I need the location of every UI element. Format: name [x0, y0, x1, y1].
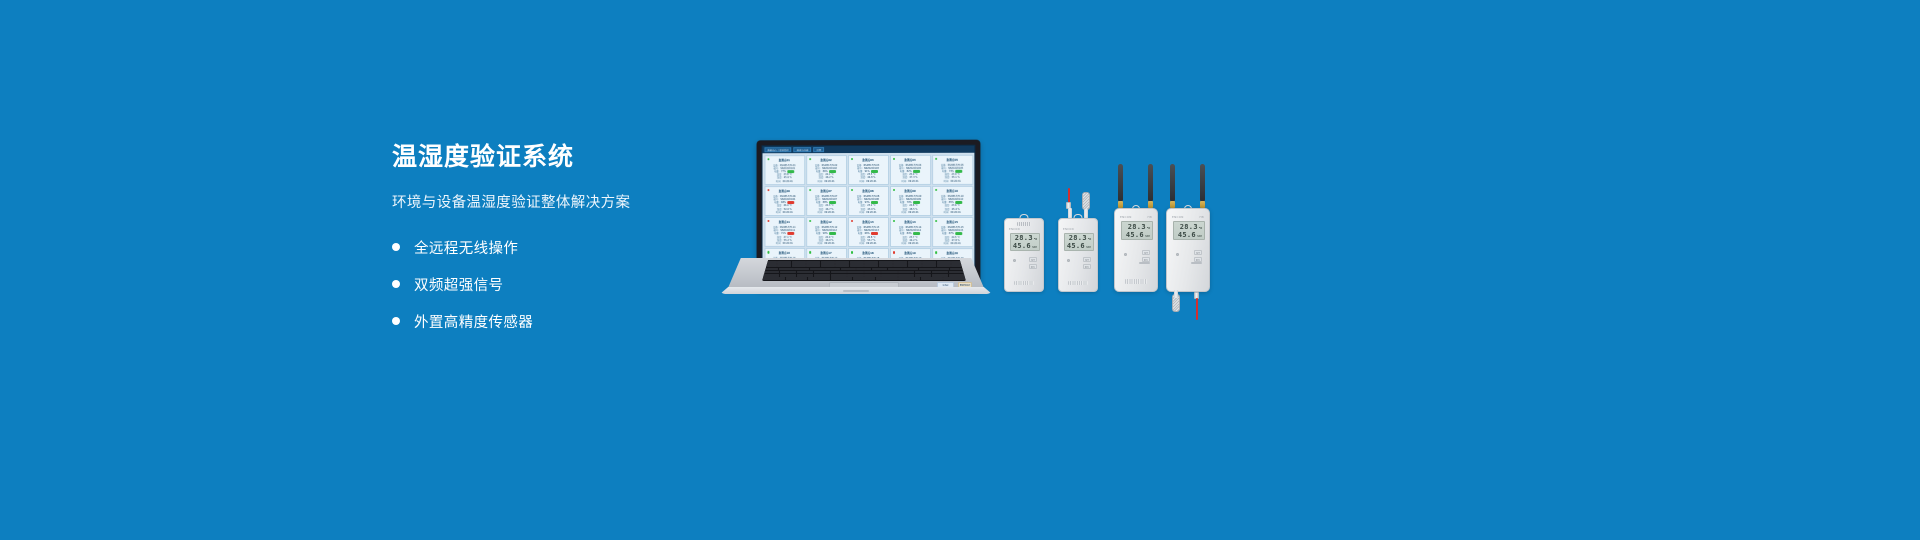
- monitor-card[interactable]: 监测点10设备:RS485-T/H-10编号:SN20220110电量:85%温…: [932, 186, 973, 216]
- wireless-validator-2: ENCON H8 28.3 ℃ 45.6 %RH SET REC: [1166, 208, 1210, 292]
- wireless-validator-2-brand: ENCON: [1172, 215, 1184, 219]
- monitor-card[interactable]: 监测点04设备:RS485-T/H-04编号:SN20220104电量:82%温…: [890, 154, 931, 184]
- field-time-label: 时间:: [859, 242, 864, 245]
- probe-cable: [1196, 298, 1198, 320]
- field-time: 时间:09:20:41: [809, 242, 844, 245]
- keyboard-key[interactable]: [872, 268, 887, 271]
- lcd-temp-value: 28.3: [1128, 223, 1146, 231]
- field-time: 时间:09:20:41: [767, 180, 802, 183]
- keyboard-key[interactable]: [763, 264, 777, 267]
- keyboard-row: [763, 271, 965, 274]
- data-logger-2-lcd: 28.3 ℃ 45.6 %RH: [1064, 233, 1094, 251]
- feature-bullet-3: 外置高精度传感器: [392, 308, 722, 334]
- field-time-label: 时间:: [901, 242, 906, 245]
- device-product-group: ENCON 28.3 ℃ 45.6 %RH SET REC: [1004, 190, 1224, 330]
- ok-status-dot-icon: [851, 189, 853, 192]
- antenna-left-base: [1170, 201, 1175, 208]
- field-time-value: 09:20:41: [866, 211, 876, 214]
- wireless-validator-2-keypad: SET REC: [1194, 250, 1202, 262]
- keyboard-key[interactable]: [777, 261, 791, 264]
- alarm-status-dot-icon: [893, 251, 896, 254]
- keyboard-row: [763, 277, 965, 280]
- keyboard-key[interactable]: [881, 274, 897, 277]
- lcd-temp-line: 28.3 ℃: [1124, 223, 1150, 231]
- monitor-card-title: 监测点06: [779, 190, 790, 194]
- keyboard-key[interactable]: [898, 274, 914, 277]
- keyboard-key[interactable]: [864, 274, 880, 277]
- bullet-dot-icon: [392, 280, 400, 288]
- lcd-hum-unit: %RH: [1032, 245, 1037, 249]
- keyboard-row: [763, 261, 965, 264]
- monitor-card-title: 监测点02: [820, 159, 831, 163]
- keyboard-key[interactable]: [949, 271, 965, 274]
- keyboard-key[interactable]: [814, 274, 830, 277]
- monitor-card-title: 监测点08: [862, 190, 873, 194]
- alarm-status-dot-icon: [851, 220, 853, 222]
- monitor-card-title: 监测点13: [862, 221, 873, 225]
- field-time-value: 09:20:41: [950, 179, 960, 182]
- keyboard-key[interactable]: [763, 271, 779, 274]
- field-time-label: 时间:: [859, 180, 864, 183]
- monitor-card-fields: 设备:RS485-T/H-05编号:SN20220105电量:74%温度:23.…: [935, 163, 970, 182]
- lcd-hum-line: 45.6 %RH: [1124, 231, 1150, 239]
- field-time-label: 时间:: [818, 180, 823, 183]
- field-time-label: 时间:: [776, 211, 781, 214]
- promo-banner: 温湿度验证系统 环境与设备温湿度验证整体解决方案 全远程无线操作 双频超强信号 …: [0, 0, 1920, 540]
- field-time-label: 时间:: [859, 211, 864, 214]
- ok-status-dot-icon: [767, 251, 769, 253]
- wireless-validator-2-labels: ENCON H8: [1167, 215, 1209, 219]
- antenna-right-icon: [1200, 164, 1205, 202]
- monitor-card-fields: 设备:RS485-T/H-10编号:SN20220110电量:85%温度:23.…: [935, 195, 970, 214]
- label-strip: [1139, 262, 1150, 264]
- monitor-card-title: 监测点01: [779, 159, 790, 163]
- keyboard-key[interactable]: [888, 268, 903, 271]
- monitor-card-title: 监测点14: [904, 221, 915, 225]
- monitor-card[interactable]: 监测点14设备:RS485-T/H-14编号:SN20220114电量:84%温…: [890, 217, 931, 247]
- monitor-card-fields: 设备:RS485-T/H-02编号:SN20220102电量:86%温度:24.…: [809, 164, 844, 183]
- key-set[interactable]: SET: [1029, 257, 1037, 262]
- monitor-card-title: 监测点05: [946, 158, 957, 162]
- battery-bar-icon: [871, 201, 878, 204]
- field-time: 时间:09:20:41: [767, 242, 802, 245]
- keyboard-key[interactable]: [808, 277, 830, 280]
- keyboard-key[interactable]: [797, 271, 813, 274]
- keyboard-key[interactable]: [786, 277, 808, 280]
- keyboard-row: [763, 264, 965, 267]
- monitor-card-title: 监测点07: [820, 190, 831, 194]
- lcd-hum-unit: %RH: [1086, 245, 1091, 249]
- speaker-grille-icon: [1068, 281, 1088, 285]
- monitor-card-title: 监测点10: [946, 190, 957, 194]
- monitor-card[interactable]: 监测点15设备:RS485-T/H-15编号:SN20220115电量:87%温…: [932, 217, 973, 247]
- keyboard-key[interactable]: [903, 268, 918, 271]
- keyboard-key[interactable]: [835, 264, 849, 267]
- keyboard-key[interactable]: [937, 264, 951, 267]
- field-time: 时间:09:20:41: [767, 211, 802, 214]
- monitor-card[interactable]: 监测点09设备:RS485-T/H-09编号:SN20220109电量:79%温…: [890, 186, 931, 216]
- data-logger-2-body: ENCON 28.3 ℃ 45.6 %RH SET REC: [1058, 218, 1098, 292]
- keyboard-key[interactable]: [835, 261, 849, 264]
- field-time-label: 时间:: [776, 180, 781, 183]
- battery-bar-icon: [829, 232, 836, 235]
- monitor-card[interactable]: 监测点03设备:RS485-T/H-03编号:SN20220103电量:91%温…: [848, 154, 889, 184]
- battery-bar-icon: [871, 232, 878, 235]
- field-time-value: 09:20:41: [783, 242, 793, 245]
- field-time: 时间:09:20:41: [935, 242, 970, 245]
- monitor-card-title: 监测点04: [904, 158, 915, 162]
- keyboard-key[interactable]: [951, 264, 965, 267]
- keyboard-key[interactable]: [806, 261, 820, 264]
- keyboard-key[interactable]: [850, 264, 864, 267]
- data-logger-1: ENCON 28.3 ℃ 45.6 %RH SET REC: [1004, 218, 1044, 292]
- keyboard-key[interactable]: [856, 268, 871, 271]
- ok-status-dot-icon: [893, 189, 896, 192]
- field-time-value: 09:20:41: [866, 180, 876, 183]
- lcd-temp-unit: ℃: [1088, 237, 1091, 241]
- field-time-label: 时间:: [944, 179, 949, 182]
- monitor-card[interactable]: 监测点07设备:RS485-T/H-07编号:SN20220107电量:88%温…: [806, 186, 847, 216]
- ok-status-dot-icon: [935, 189, 938, 192]
- monitor-card-fields: 设备:RS485-T/H-06编号:SN20220106电量:68%温度:26.…: [767, 195, 802, 214]
- keyboard-key[interactable]: [937, 261, 951, 264]
- monitor-card-fields: 设备:RS485-T/H-08编号:SN20220108电量:93%温度:23.…: [851, 195, 886, 214]
- field-time: 时间:09:20:41: [893, 242, 928, 245]
- keyboard-key[interactable]: [763, 268, 778, 271]
- status-led-icon: [1176, 253, 1179, 256]
- page-subtitle: 环境与设备温湿度验证整体解决方案: [392, 191, 722, 212]
- toolbar-button-0[interactable]: 数据中心 / 实时监控: [764, 147, 791, 152]
- keyboard-key[interactable]: [932, 271, 948, 274]
- keyboard-key[interactable]: [934, 268, 949, 271]
- key-set[interactable]: SET: [1142, 250, 1150, 255]
- antenna-right-base: [1148, 201, 1153, 208]
- feature-bullet-2: 双频超强信号: [392, 271, 722, 297]
- ok-status-dot-icon: [809, 158, 811, 160]
- toolbar-button-2[interactable]: 设置: [814, 147, 825, 152]
- speaker-grille-icon: [1014, 281, 1034, 285]
- monitor-card-title: 监测点17: [820, 252, 831, 256]
- keyboard-row: [763, 268, 965, 271]
- keyboard-key[interactable]: [792, 261, 806, 264]
- keyboard-key[interactable]: [763, 274, 779, 277]
- ok-status-dot-icon: [893, 157, 896, 160]
- monitor-card-fields: 设备:RS485-T/H-14编号:SN20220114电量:84%温度:23.…: [893, 226, 928, 245]
- antenna-right-base: [1200, 201, 1205, 208]
- lcd-temp-value: 28.3: [1015, 234, 1033, 242]
- field-time-label: 时间:: [901, 179, 906, 182]
- monitor-card-title: 监测点16: [779, 252, 790, 256]
- monitor-card-title: 监测点03: [862, 158, 873, 162]
- battery-bar-icon: [955, 170, 962, 173]
- lcd-hum-value: 45.6: [1178, 231, 1196, 239]
- data-logger-1-body: ENCON 28.3 ℃ 45.6 %RH SET REC: [1004, 218, 1044, 292]
- feature-bullet-1-label: 全远程无线操作: [414, 237, 518, 258]
- probe-stem: [1174, 290, 1178, 298]
- monitor-card-fields: 设备:RS485-T/H-12编号:SN20220112电量:90%温度:24.…: [809, 226, 844, 245]
- keyboard-key[interactable]: [915, 271, 931, 274]
- wireless-validator-2-model: H8: [1200, 215, 1204, 219]
- field-time: 时间:09:20:41: [893, 179, 928, 182]
- keyboard-key[interactable]: [847, 274, 863, 277]
- ok-status-dot-icon: [893, 220, 896, 223]
- wireless-validator-1-body: ENCON H8 28.3 ℃ 45.6 %RH SET REC: [1114, 208, 1158, 292]
- field-time-label: 时间:: [818, 242, 823, 245]
- bullet-dot-icon: [392, 317, 400, 325]
- label-strip: [1191, 262, 1202, 264]
- keyboard-key[interactable]: [831, 271, 847, 274]
- data-logger-1-brand: ENCON: [1009, 228, 1020, 231]
- field-time-value: 09:20:41: [824, 242, 834, 245]
- wireless-validator-1: ENCON H8 28.3 ℃ 45.6 %RH SET REC: [1114, 208, 1158, 292]
- monitor-card-title: 监测点15: [946, 221, 957, 225]
- lcd-hum-value: 45.6: [1067, 242, 1085, 250]
- monitor-card-fields: 设备:RS485-T/H-13编号:SN20220113电量:66%温度:26.…: [851, 226, 886, 245]
- key-rec[interactable]: REC: [1083, 264, 1091, 269]
- field-time-label: 时间:: [944, 242, 949, 245]
- monitor-card-fields: 设备:RS485-T/H-07编号:SN20220107电量:88%温度:24.…: [809, 195, 844, 214]
- laptop-base: Intel ENERGY: [720, 258, 992, 300]
- field-time-value: 09:20:41: [908, 179, 918, 182]
- lcd-temp-line: 28.3 ℃: [1013, 234, 1037, 242]
- laptop-keyboard[interactable]: [762, 260, 966, 281]
- ok-status-dot-icon: [809, 189, 811, 191]
- data-logger-1-keypad: SET REC: [1029, 257, 1037, 269]
- keyboard-key[interactable]: [898, 277, 920, 280]
- lcd-hum-value: 45.6: [1013, 242, 1031, 250]
- keyboard-row: [763, 274, 965, 277]
- keyboard-key[interactable]: [922, 264, 936, 267]
- keyboard-key[interactable]: [850, 261, 864, 264]
- monitor-card-title: 监测点11: [779, 221, 790, 225]
- keyboard-key[interactable]: [763, 277, 785, 280]
- battery-bar-icon: [913, 232, 920, 235]
- keyboard-key[interactable]: [831, 277, 853, 280]
- keyboard-key[interactable]: [893, 264, 907, 267]
- field-time-value: 09:20:41: [783, 180, 793, 183]
- ok-status-dot-icon: [935, 251, 938, 254]
- monitor-card-fields: 设备:RS485-T/H-03编号:SN20220103电量:91%温度:23.…: [851, 163, 886, 182]
- field-time: 时间:09:20:41: [935, 211, 970, 214]
- laptop-open-notch: [843, 290, 869, 292]
- antenna-right-icon: [1148, 164, 1153, 202]
- field-time-value: 09:20:41: [950, 242, 960, 245]
- keyboard-key[interactable]: [779, 268, 794, 271]
- monitor-card-fields: 设备:RS485-T/H-15编号:SN20220115电量:87%温度:24.…: [935, 226, 970, 245]
- keyboard-key[interactable]: [908, 261, 922, 264]
- lcd-hum-unit: %RH: [1145, 234, 1150, 238]
- wireless-validator-2-lcd: 28.3 ℃ 45.6 %RH: [1173, 221, 1205, 240]
- keyboard-key[interactable]: [919, 268, 934, 271]
- lcd-temp-value: 28.3: [1069, 234, 1087, 242]
- monitor-card-fields: 设备:RS485-T/H-04编号:SN20220104电量:82%温度:25.…: [893, 163, 928, 182]
- keyboard-key[interactable]: [864, 261, 878, 264]
- ok-status-dot-icon: [809, 220, 811, 222]
- ok-status-dot-icon: [851, 251, 853, 254]
- speaker-grille-icon: [1125, 279, 1147, 284]
- laptop-product-image: 数据中心 / 实时监控 报表与分析 设置 监测点01设备:RS485-T/H-0…: [720, 140, 992, 300]
- keyboard-key[interactable]: [853, 277, 875, 280]
- monitor-card[interactable]: 监测点05设备:RS485-T/H-05编号:SN20220105电量:74%温…: [932, 154, 973, 184]
- keyboard-key[interactable]: [831, 274, 847, 277]
- keyboard-key[interactable]: [881, 271, 897, 274]
- lcd-temp-unit: ℃: [1034, 237, 1037, 241]
- monitor-card-title: 监测点12: [820, 221, 831, 225]
- lcd-hum-line: 45.6 %RH: [1013, 242, 1037, 250]
- keyboard-key[interactable]: [879, 261, 893, 264]
- ok-status-dot-icon: [935, 220, 938, 223]
- keyboard-key[interactable]: [821, 264, 835, 267]
- monitor-card[interactable]: 监测点06设备:RS485-T/H-06编号:SN20220106电量:68%温…: [764, 186, 805, 216]
- keyboard-key[interactable]: [780, 274, 796, 277]
- copy-block: 温湿度验证系统 环境与设备温湿度验证整体解决方案 全远程无线操作 双频超强信号 …: [392, 142, 722, 345]
- keyboard-key[interactable]: [763, 261, 777, 264]
- data-logger-2-keypad: SET REC: [1083, 257, 1091, 269]
- keyboard-key[interactable]: [950, 268, 965, 271]
- keyboard-key[interactable]: [864, 271, 880, 274]
- wireless-validator-2-body: ENCON H8 28.3 ℃ 45.6 %RH SET REC: [1166, 208, 1210, 292]
- status-led-icon: [1067, 259, 1070, 262]
- battery-bar-icon: [788, 201, 795, 204]
- feature-bullet-1: 全远程无线操作: [392, 234, 722, 260]
- status-led-icon: [1013, 259, 1016, 262]
- monitor-card[interactable]: 监测点08设备:RS485-T/H-08编号:SN20220108电量:93%温…: [848, 186, 889, 216]
- keyboard-key[interactable]: [794, 268, 809, 271]
- lcd-temp-unit: ℃: [1199, 226, 1202, 230]
- feature-bullet-3-label: 外置高精度传感器: [414, 311, 533, 332]
- monitor-card-fields: 设备:RS485-T/H-09编号:SN20220109电量:79%温度:24.…: [893, 195, 928, 214]
- monitor-card-fields: 设备:RS485-T/H-11编号:SN20220111电量:71%温度:27.…: [767, 226, 802, 245]
- field-time: 时间:09:20:41: [809, 211, 844, 214]
- keyboard-key[interactable]: [922, 261, 936, 264]
- antenna-left-icon: [1118, 164, 1123, 202]
- keyboard-key[interactable]: [943, 277, 965, 280]
- data-logger-2-brand: ENCON: [1063, 228, 1074, 231]
- field-time-value: 09:20:41: [824, 180, 834, 183]
- keyboard-key[interactable]: [893, 261, 907, 264]
- monitor-card-title: 监测点19: [904, 252, 915, 256]
- lcd-hum-unit: %RH: [1197, 234, 1202, 238]
- field-time-value: 09:20:41: [783, 211, 793, 214]
- keyboard-key[interactable]: [821, 261, 835, 264]
- alarm-status-dot-icon: [767, 189, 769, 191]
- keyboard-key[interactable]: [777, 264, 791, 267]
- lcd-temp-line: 28.3 ℃: [1067, 234, 1091, 242]
- field-time-value: 09:20:41: [866, 242, 876, 245]
- monitor-card[interactable]: 监测点01设备:RS485-T/H-01编号:SN20220101电量:77%温…: [764, 155, 805, 185]
- monitor-card[interactable]: 监测点02设备:RS485-T/H-02编号:SN20220102电量:86%温…: [806, 155, 847, 185]
- battery-bar-icon: [913, 201, 920, 204]
- field-time-value: 09:20:41: [824, 211, 834, 214]
- antenna-left-icon: [1170, 164, 1175, 202]
- battery-bar-icon: [955, 232, 962, 235]
- monitor-card[interactable]: 监测点12设备:RS485-T/H-12编号:SN20220112电量:90%温…: [806, 217, 847, 247]
- field-time-label: 时间:: [901, 211, 906, 214]
- keyboard-key[interactable]: [847, 271, 863, 274]
- feature-bullet-2-label: 双频超强信号: [414, 274, 503, 295]
- probe-sensor-head: [1082, 192, 1090, 210]
- field-time: 时间:09:20:41: [935, 179, 970, 182]
- keyboard-key[interactable]: [780, 271, 796, 274]
- keyboard-key[interactable]: [810, 268, 825, 271]
- alarm-status-dot-icon: [767, 220, 769, 222]
- battery-bar-icon: [955, 201, 962, 204]
- antenna-left-base: [1118, 201, 1123, 208]
- keyboard-key[interactable]: [792, 264, 806, 267]
- lcd-hum-value: 45.6: [1126, 231, 1144, 239]
- key-set[interactable]: SET: [1194, 250, 1202, 255]
- field-time-value: 09:20:41: [950, 211, 960, 214]
- field-time-value: 09:20:41: [908, 242, 918, 245]
- keyboard-key[interactable]: [825, 268, 840, 271]
- data-logger-2: ENCON 28.3 ℃ 45.6 %RH SET REC: [1058, 218, 1098, 292]
- field-time: 时间:09:20:41: [851, 179, 886, 182]
- keyboard-key[interactable]: [814, 271, 830, 274]
- field-time: 时间:09:20:41: [893, 211, 928, 214]
- keyboard-key[interactable]: [915, 274, 931, 277]
- lcd-temp-value: 28.3: [1180, 223, 1198, 231]
- keyboard-key[interactable]: [921, 277, 943, 280]
- battery-bar-icon: [871, 170, 878, 173]
- data-logger-1-lcd: 28.3 ℃ 45.6 %RH: [1010, 233, 1040, 251]
- wireless-validator-1-keypad: SET REC: [1142, 250, 1150, 262]
- ok-status-dot-icon: [767, 158, 769, 160]
- ok-status-dot-icon: [809, 251, 811, 253]
- key-set[interactable]: SET: [1083, 257, 1091, 262]
- keyboard-key[interactable]: [841, 268, 856, 271]
- field-time: 时间:09:20:41: [809, 180, 844, 183]
- field-time-label: 时间:: [776, 242, 781, 245]
- keyboard-key[interactable]: [898, 271, 914, 274]
- field-time: 时间:09:20:41: [851, 242, 886, 245]
- keyboard-key[interactable]: [879, 264, 893, 267]
- laptop-deck: Intel ENERGY: [728, 258, 984, 288]
- keyboard-key[interactable]: [949, 274, 965, 277]
- keyboard-key[interactable]: [864, 264, 878, 267]
- toolbar-button-1[interactable]: 报表与分析: [794, 147, 812, 152]
- field-time-value: 09:20:41: [908, 211, 918, 214]
- field-time-label: 时间:: [818, 211, 823, 214]
- wireless-validator-1-model: H8: [1148, 215, 1152, 219]
- monitor-card-fields: 设备:RS485-T/H-01编号:SN20220101电量:77%温度:23.…: [767, 164, 802, 183]
- ok-status-dot-icon: [851, 158, 853, 161]
- wireless-validator-1-brand: ENCON: [1120, 215, 1132, 219]
- monitor-card-title: 监测点09: [904, 190, 915, 194]
- key-rec[interactable]: REC: [1029, 264, 1037, 269]
- keyboard-key[interactable]: [806, 264, 820, 267]
- keyboard-key[interactable]: [797, 274, 813, 277]
- monitor-card-title: 监测点20: [946, 252, 957, 256]
- field-time: 时间:09:20:41: [851, 211, 886, 214]
- monitor-card-title: 监测点18: [862, 252, 873, 256]
- feature-bullet-list: 全远程无线操作 双频超强信号 外置高精度传感器: [392, 234, 722, 334]
- lcd-temp-line: 28.3 ℃: [1176, 223, 1202, 231]
- lcd-temp-unit: ℃: [1147, 226, 1150, 230]
- sensor-vent-grille-icon: [1017, 222, 1031, 226]
- lcd-hum-line: 45.6 %RH: [1067, 242, 1091, 250]
- monitor-card[interactable]: 监测点11设备:RS485-T/H-11编号:SN20220111电量:71%温…: [764, 217, 805, 247]
- ok-status-dot-icon: [935, 157, 938, 160]
- wireless-validator-1-labels: ENCON H8: [1115, 215, 1157, 219]
- field-time-label: 时间:: [944, 211, 949, 214]
- keyboard-key[interactable]: [932, 274, 948, 277]
- bullet-dot-icon: [392, 243, 400, 251]
- monitor-card[interactable]: 监测点13设备:RS485-T/H-13编号:SN20220113电量:66%温…: [848, 217, 889, 247]
- keyboard-key[interactable]: [908, 264, 922, 267]
- page-title: 温湿度验证系统: [392, 142, 722, 172]
- keyboard-key[interactable]: [876, 277, 898, 280]
- keyboard-key[interactable]: [951, 261, 965, 264]
